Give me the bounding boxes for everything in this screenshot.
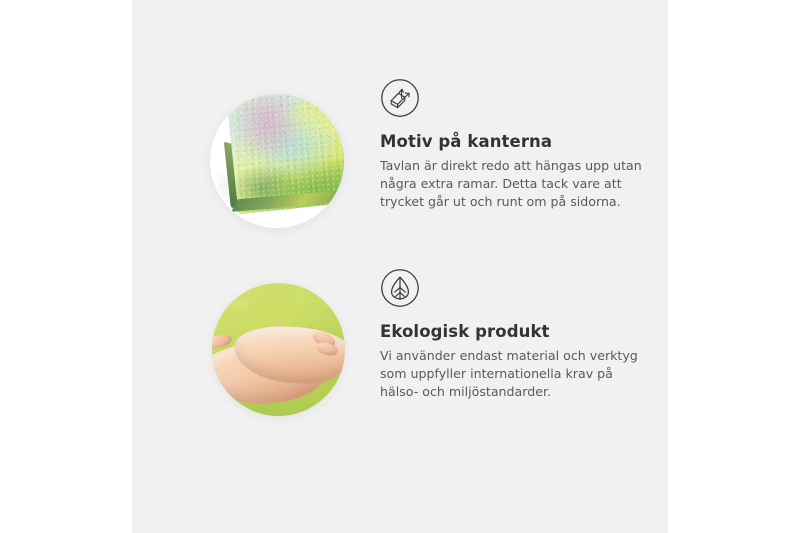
feature-1-text-column: Motiv på kanterna Tavlan är direkt redo … [380,78,660,210]
feature-1-body: Tavlan är direkt redo att hängas upp uta… [380,157,648,211]
product-feature-infographic: Motiv på kanterna Tavlan är direkt redo … [0,0,800,533]
hands-wood-chips-photo [212,283,345,416]
canvas-corner-photo [210,94,344,228]
feature-block-motiv-pa-kanterna: Motiv på kanterna Tavlan är direkt redo … [132,78,668,258]
feature-2-text-column: Ekologisk produkt Vi använder endast mat… [380,268,660,400]
canvas-wrapped-edges-icon [380,78,420,118]
canvas-print-block [226,94,344,214]
feature-2-body: Vi använder endast material och verktyg … [380,347,648,401]
feature-2-title: Ekologisk produkt [380,322,660,342]
content-panel: Motiv på kanterna Tavlan är direkt redo … [132,0,668,533]
feature-block-ekologisk-produkt: Ekologisk produkt Vi använder endast mat… [132,268,668,438]
leaf-eco-icon [380,268,420,308]
feature-1-title: Motiv på kanterna [380,132,660,152]
